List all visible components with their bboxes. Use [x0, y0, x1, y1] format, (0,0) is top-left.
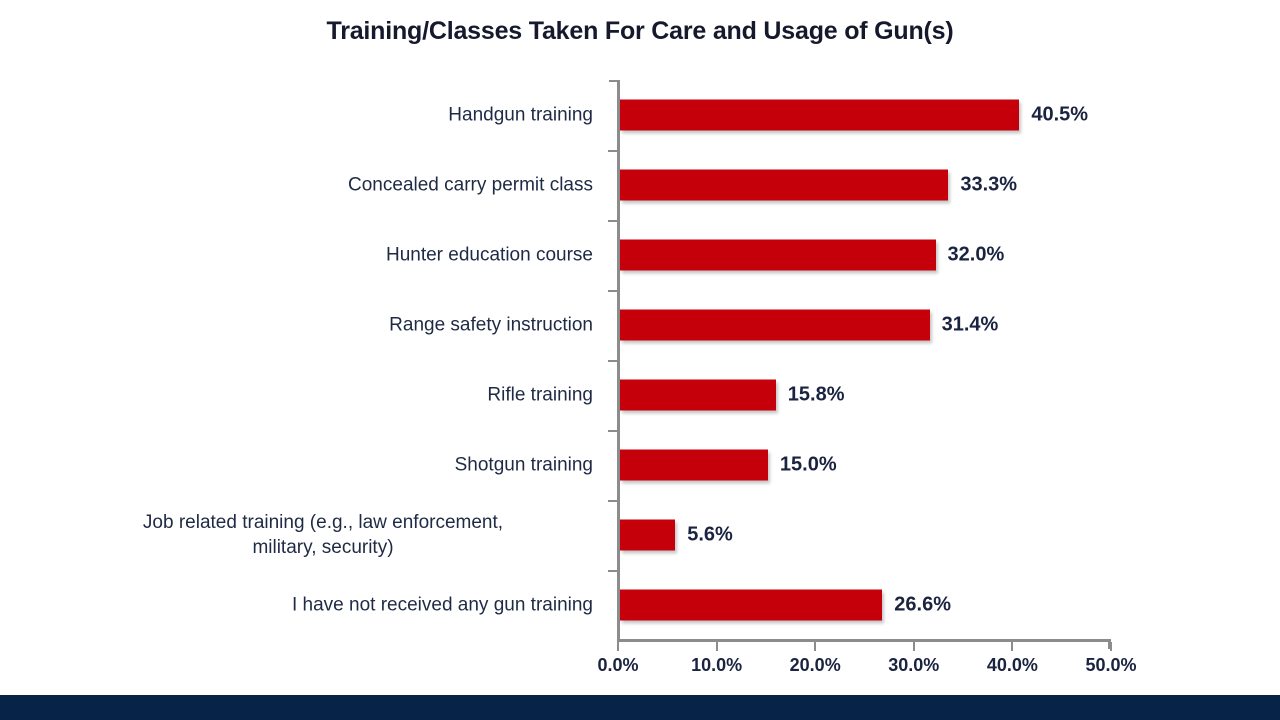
x-axis-tick [1110, 642, 1112, 651]
bar-row: Handgun training40.5% [0, 80, 1280, 150]
bar-value-label: 40.5% [1031, 104, 1088, 127]
bar-track [620, 310, 930, 341]
category-label: Hunter education course [53, 243, 593, 268]
bar-row: Range safety instruction31.4% [0, 290, 1280, 360]
bar[interactable] [620, 590, 882, 621]
bar-track [620, 590, 882, 621]
bar-track [620, 240, 936, 271]
slide-canvas: Training/Classes Taken For Care and Usag… [0, 0, 1280, 720]
bar-value-label: 26.6% [894, 594, 951, 617]
bar[interactable] [620, 450, 768, 481]
bar-row: Rifle training15.8% [0, 360, 1280, 430]
bar[interactable] [620, 310, 930, 341]
bar-row: Hunter education course32.0% [0, 220, 1280, 290]
bar[interactable] [620, 520, 675, 551]
category-label: Job related training (e.g., law enforcem… [53, 510, 593, 560]
x-axis-tick [1011, 642, 1013, 651]
category-label: Range safety instruction [53, 313, 593, 338]
bar-value-label: 33.3% [960, 174, 1017, 197]
category-label: Handgun training [53, 103, 593, 128]
bar[interactable] [620, 170, 948, 201]
category-label: Concealed carry permit class [53, 173, 593, 198]
bar-track [620, 380, 776, 411]
x-axis-tick [617, 642, 619, 651]
bar[interactable] [620, 100, 1019, 131]
bar-row: Concealed carry permit class33.3% [0, 150, 1280, 220]
bar-row: Shotgun training15.0% [0, 430, 1280, 500]
bar-chart: Handgun training40.5%Concealed carry per… [0, 0, 1280, 695]
category-label: Shotgun training [53, 453, 593, 478]
bar-row: I have not received any gun training26.6… [0, 570, 1280, 640]
x-axis-tick-label: 40.0% [967, 655, 1057, 676]
x-axis-tick-label: 50.0% [1066, 655, 1156, 676]
bar-track [620, 100, 1019, 131]
bar-value-label: 15.8% [788, 384, 845, 407]
x-axis-tick [913, 642, 915, 651]
bar-track [620, 170, 948, 201]
bar[interactable] [620, 380, 776, 411]
bar-value-label: 32.0% [948, 244, 1005, 267]
x-axis-tick [716, 642, 718, 651]
bar-value-label: 15.0% [780, 454, 837, 477]
bar-track [620, 520, 675, 551]
bar-track [620, 450, 768, 481]
x-axis-tick-label: 30.0% [869, 655, 959, 676]
category-label: Rifle training [53, 383, 593, 408]
x-axis-tick-label: 0.0% [573, 655, 663, 676]
x-axis-tick-label: 10.0% [672, 655, 762, 676]
category-label: I have not received any gun training [53, 593, 593, 618]
bar-row: Job related training (e.g., law enforcem… [0, 500, 1280, 570]
bar-value-label: 31.4% [942, 314, 999, 337]
footer-band [0, 695, 1280, 720]
bar-value-label: 5.6% [687, 524, 733, 547]
x-axis-tick [814, 642, 816, 651]
bar[interactable] [620, 240, 936, 271]
x-axis-tick-label: 20.0% [770, 655, 860, 676]
